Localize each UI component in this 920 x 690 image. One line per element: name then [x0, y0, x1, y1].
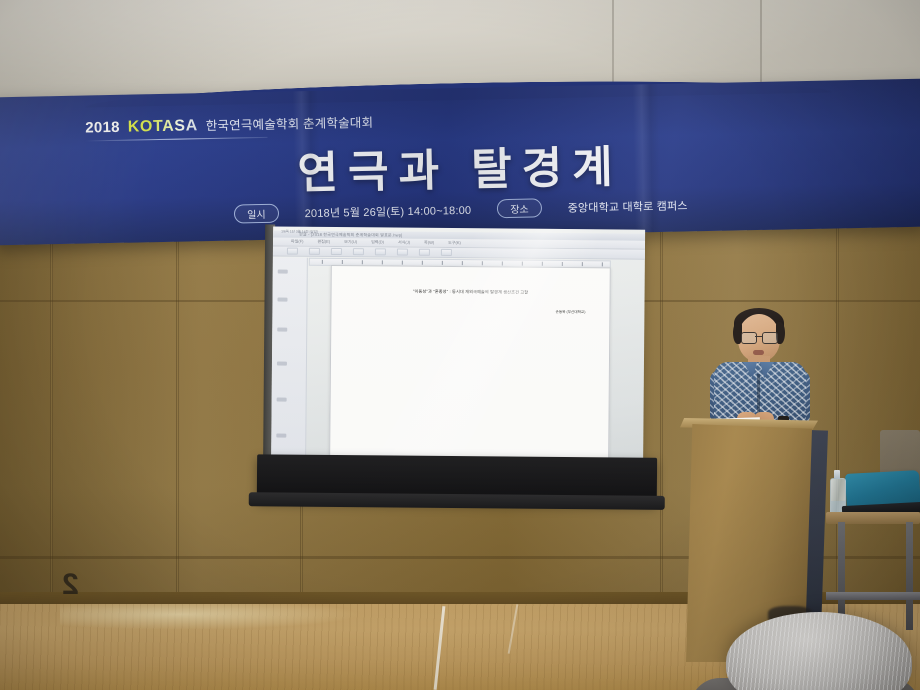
document-paragraph [355, 354, 583, 360]
banner-fold [293, 91, 322, 239]
glasses-icon [741, 332, 777, 343]
menu-item-tools[interactable]: 도구(K) [448, 240, 461, 246]
banner-org-row: 2018 KOTASA 한국연극예술학회 춘계학술대회 [85, 112, 373, 138]
menu-item-view[interactable]: 보기(U) [344, 239, 357, 245]
toolbar-button[interactable] [287, 248, 298, 255]
banner-org-name: 한국연극예술학회 춘계학술대회 [206, 112, 374, 134]
wall-panel-seam [50, 212, 53, 594]
document-title: "이동성"과 "혼종성" : 동시대 재외극예술의 탈경계 생산조건 고찰 [332, 288, 610, 296]
banner-venue-pill: 장소 [497, 198, 542, 218]
menu-item-input[interactable]: 입력(D) [371, 239, 384, 245]
app-sidebar [271, 257, 308, 462]
wall-panel-seam [176, 212, 179, 594]
banner-date-value: 2018년 5월 26일(토) 14:00~18:00 [304, 201, 471, 220]
floor-light-reflection [60, 604, 360, 630]
projected-application-window: 한글 - [2018 한국연극예술학회 춘계학술대회 발표문.hwp] 파일(F… [271, 226, 645, 481]
app-status-text: 1/6쪽 1단 3줄 14칸 [삽입] [281, 228, 318, 233]
speaker-mouth [753, 350, 764, 355]
document-paragraph [355, 330, 583, 336]
banner-org-mark: KOTASA [128, 117, 198, 136]
event-banner: 2018 KOTASA 한국연극예술학회 춘계학술대회 연극과 탈경계 일시 2… [0, 79, 920, 246]
menu-item-edit[interactable]: 편집(E) [317, 239, 330, 245]
document-paragraph [355, 338, 583, 344]
toolbar-button[interactable] [397, 249, 408, 256]
banner-fold [632, 84, 661, 232]
speaker-figure [700, 300, 820, 430]
banner-date-pill: 일시 [234, 204, 279, 224]
document-page: "이동성"과 "혼종성" : 동시대 재외극예술의 탈경계 생산조건 고찰 손동… [329, 265, 611, 469]
toolbar-button[interactable] [441, 249, 452, 256]
toolbar-button[interactable] [375, 248, 386, 255]
toolbar-button[interactable] [353, 248, 364, 255]
wall-number-left: 2 [62, 568, 79, 602]
wall-panel-seam [660, 212, 663, 594]
conference-photo-scene: 3 2 2018 KOTASA 한국연극예술학회 춘계학술대회 연극과 탈경계 … [0, 0, 920, 690]
document-body [355, 330, 583, 364]
toolbar-button[interactable] [331, 248, 342, 255]
projection-screen: 한글 - [2018 한국연극예술학회 춘계학술대회 발표문.hwp] 파일(F… [249, 226, 651, 491]
toolbar-button[interactable] [309, 248, 320, 255]
document-author: 손동욱 (부산대학교) [556, 310, 586, 315]
banner-year: 2018 [85, 119, 120, 137]
side-table-leg [906, 522, 913, 630]
document-paragraph [355, 346, 583, 352]
menu-item-format[interactable]: 서식(J) [398, 240, 410, 246]
banner-venue-value: 중앙대학교 대학로 캠퍼스 [567, 197, 687, 215]
screen-surface: 한글 - [2018 한국연극예술학회 춘계학술대회 발표문.hwp] 파일(F… [271, 226, 645, 481]
toolbar-button[interactable] [419, 249, 430, 256]
menu-item-file[interactable]: 파일(F) [291, 239, 304, 245]
menu-item-page[interactable]: 쪽(W) [424, 240, 434, 246]
side-table-shelf [826, 592, 920, 600]
